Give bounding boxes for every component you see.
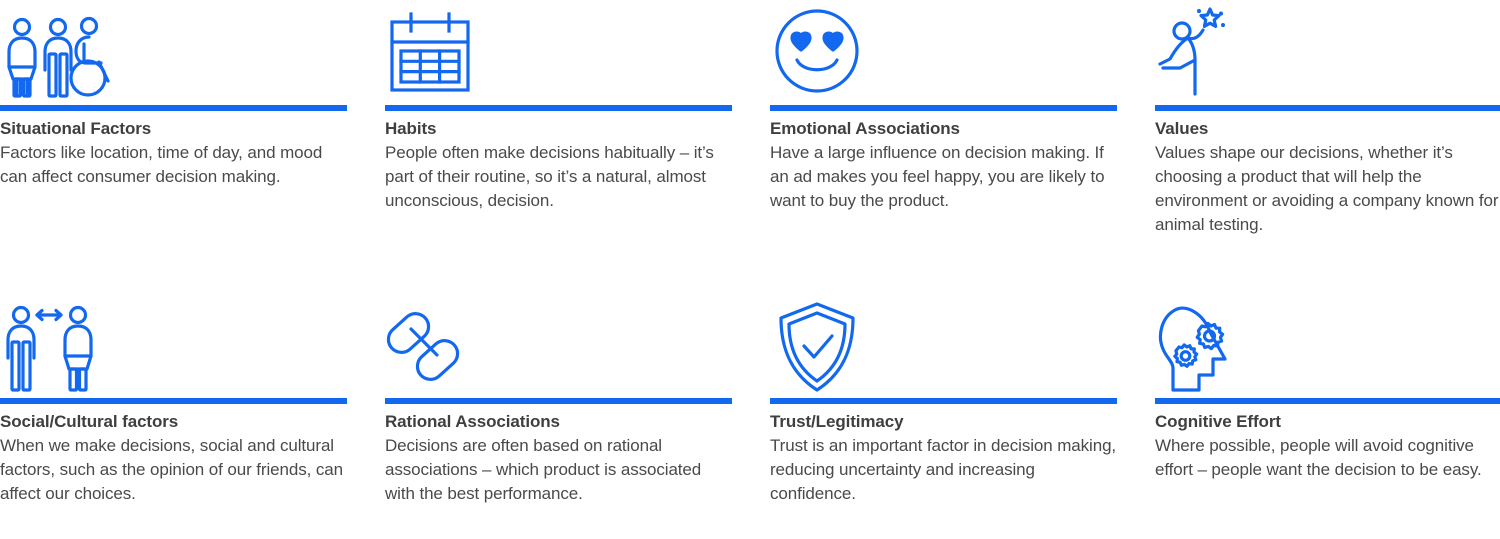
card-body: Factors like location, time of day, and …: [0, 141, 347, 189]
card-heading: Rational Associations: [385, 410, 732, 434]
card-heading: Emotional Associations: [770, 117, 1117, 141]
card-heading: Values: [1155, 117, 1500, 141]
column-gap: [347, 290, 385, 539]
column-gap: [347, 0, 385, 290]
info-card-cognitive-effort: Cognitive Effort Where possible, people …: [1155, 290, 1500, 539]
info-card-habits: Habits People often make decisions habit…: [385, 0, 732, 290]
column-gap: [1117, 0, 1155, 290]
shield-check-icon: [770, 290, 1117, 398]
info-card-values: Values Values shape our decisions, wheth…: [1155, 0, 1500, 290]
chain-link-icon: [385, 290, 732, 398]
info-card-rational-associations: Rational Associations Decisions are ofte…: [385, 290, 732, 539]
heart-eyes-smiley-icon: [770, 0, 1117, 105]
two-people-distance-arrow-icon: [0, 290, 347, 398]
card-heading: Cognitive Effort: [1155, 410, 1500, 434]
card-body: People often make decisions habitually –…: [385, 141, 732, 213]
column-gap: [1117, 290, 1155, 539]
column-gap: [732, 0, 770, 290]
info-card-social-cultural-factors: Social/Cultural factors When we make dec…: [0, 290, 347, 539]
people-diversity-icon: [0, 0, 347, 105]
info-card-trust-legitimacy: Trust/Legitimacy Trust is an important f…: [770, 290, 1117, 539]
card-body: Have a large influence on decision makin…: [770, 141, 1117, 213]
card-heading: Situational Factors: [0, 117, 347, 141]
person-reaching-star-icon: [1155, 0, 1500, 105]
card-body: Values shape our decisions, whether it’s…: [1155, 141, 1500, 237]
head-gears-icon: [1155, 290, 1500, 398]
card-body: Where possible, people will avoid cognit…: [1155, 434, 1500, 482]
card-body: When we make decisions, social and cultu…: [0, 434, 347, 506]
info-card-emotional-associations: Emotional Associations Have a large infl…: [770, 0, 1117, 290]
column-gap: [732, 290, 770, 539]
card-heading: Habits: [385, 117, 732, 141]
card-body: Trust is an important factor in decision…: [770, 434, 1117, 506]
info-card-grid: Situational Factors Factors like locatio…: [0, 0, 1500, 539]
calendar-icon: [385, 0, 732, 105]
card-body: Decisions are often based on rational as…: [385, 434, 732, 506]
info-card-situational-factors: Situational Factors Factors like locatio…: [0, 0, 347, 290]
card-heading: Trust/Legitimacy: [770, 410, 1117, 434]
card-heading: Social/Cultural factors: [0, 410, 347, 434]
